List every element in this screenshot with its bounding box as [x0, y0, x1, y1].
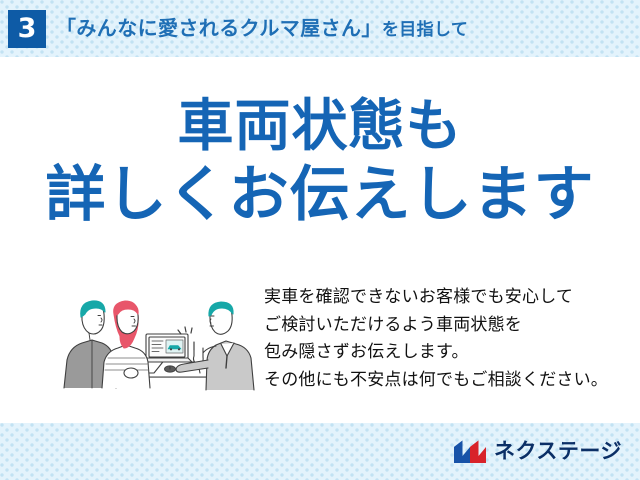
consultation-illustration: [58, 276, 256, 396]
body-line-2: ご検討いただけるよう車両状態を: [264, 311, 616, 339]
brand-logo: ネクステージ: [453, 438, 622, 466]
promo-banner: 3 「みんなに愛されるクルマ屋さん」を目指して 車両状態も 詳しくお伝えします: [0, 0, 640, 480]
body-copy: 実車を確認できないお客様でも安心して ご検討いただけるよう車両状態を 包み隠さず…: [264, 283, 616, 393]
header-title: 「みんなに愛されるクルマ屋さん」を目指して: [56, 13, 468, 45]
body-line-3: 包み隠さずお伝えします。: [264, 338, 616, 366]
headline: 車両状態も 詳しくお伝えします: [0, 96, 640, 227]
body-line-4: その他にも不安点は何でもご相談ください。: [264, 366, 616, 394]
header-title-main: 「みんなに愛されるクルマ屋さん」: [56, 18, 382, 40]
brand-logo-text: ネクステージ: [494, 439, 622, 465]
nextage-n-logo-icon: [453, 439, 487, 465]
headline-line-1: 車両状態も: [0, 96, 640, 155]
body-line-1: 実車を確認できないお客様でも安心して: [264, 283, 616, 311]
step-number-badge: 3: [8, 10, 46, 48]
headline-line-2: 詳しくお伝えします: [0, 163, 640, 227]
header-title-suffix: を目指して: [382, 20, 469, 39]
